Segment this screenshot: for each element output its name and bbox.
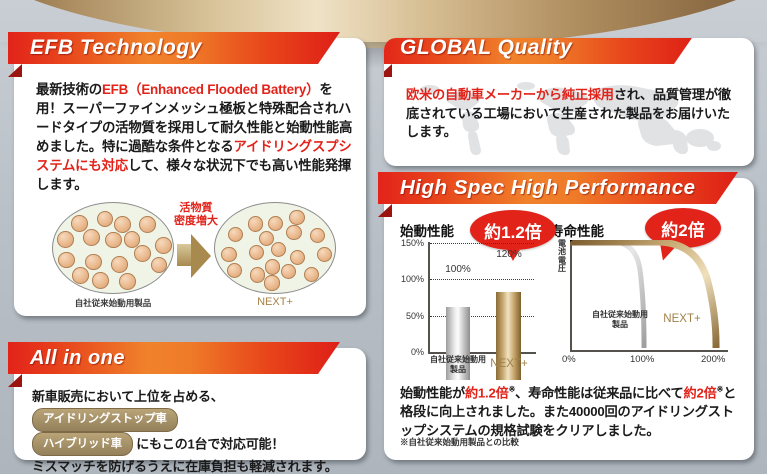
active-material-particle	[58, 252, 75, 269]
active-material-particle	[134, 245, 151, 262]
active-material-particle	[304, 267, 319, 282]
line-label-nextplus: NEXT+	[652, 312, 712, 326]
blob-label-conventional: 自社従来始動用製品	[43, 297, 183, 309]
arrow-label-line2: 密度増大	[174, 215, 218, 227]
active-material-particle	[83, 229, 100, 246]
line-chart-y-axis-label: 電池電圧	[558, 240, 569, 274]
xtick-0: 0%	[562, 354, 576, 365]
ribbon-efb-technology: EFB Technology	[8, 32, 340, 64]
blob-label-nextplus: NEXT+	[205, 296, 345, 308]
ribbon-tail-efb	[8, 64, 22, 77]
bar-chart-starting-performance: 150% 100% 50% 0% 100% 120% 自社従来始動用製品 NEX…	[394, 240, 544, 380]
allinone-line1-pre: 新車販売において上位を占める、	[32, 389, 224, 404]
bar-label-conventional: 自社従来始動用製品	[430, 355, 486, 375]
allinone-paragraph: 新車販売において上位を占める、アイドリングストップ車 ハイブリッド車 にもこの1…	[32, 386, 354, 474]
xtick-100: 100%	[630, 354, 654, 365]
active-material-particle	[286, 225, 301, 240]
active-material-particle	[265, 259, 280, 274]
infographic-root: EFB Technology 最新技術のEFB（Enhanced Flooded…	[0, 0, 767, 474]
line-chart-life-performance: 電池電圧	[556, 236, 742, 382]
ribbon-global-quality: GLOBAL Quality	[384, 38, 696, 64]
gridline-100	[430, 279, 534, 280]
ribbon-title-efb: EFB Technology	[8, 36, 202, 60]
active-material-particle	[72, 267, 89, 284]
arrow-label-line1: 活物質	[180, 202, 213, 214]
bar-chart-y-axis	[428, 242, 430, 352]
arrow-label: 活物質 密度増大	[173, 202, 219, 227]
bar-value-nextplus: 120%	[484, 249, 534, 260]
ytick-150: 150%	[394, 238, 424, 248]
life-curves	[570, 240, 730, 351]
ribbon-high-spec: High Spec High Performance	[378, 172, 738, 204]
ribbon-tail-global	[384, 64, 392, 77]
active-material-particle	[71, 215, 88, 232]
active-material-particle	[114, 216, 131, 233]
density-arrow-group: 活物質 密度増大	[175, 204, 215, 296]
spec-footnote: ※自社従来始動用製品との比較	[400, 436, 519, 448]
arrow-head-icon	[191, 234, 211, 278]
active-material-particle	[250, 267, 265, 282]
active-material-particle	[289, 210, 304, 225]
active-material-particle	[57, 231, 74, 248]
active-material-particle	[221, 247, 236, 262]
particle-density-diagram: 活物質 密度増大 自社従来始動用製品 NEXT+	[32, 198, 352, 308]
spec-text-1: 始動性能が	[400, 385, 465, 400]
xtick-200: 200%	[701, 354, 725, 365]
card-global-quality: GLOBAL Quality 欧米の自動車メーカーから純正採用され、品質管理が徹…	[384, 38, 754, 166]
active-material-particle	[248, 216, 263, 231]
active-material-particle	[97, 211, 114, 228]
global-paragraph: 欧米の自動車メーカーから純正採用され、品質管理が徹底されている工場において生産さ…	[406, 86, 742, 142]
badge-idling-stop: アイドリングストップ車	[32, 408, 178, 432]
ribbon-all-in-one: All in one	[8, 342, 340, 374]
active-material-particle	[151, 257, 168, 274]
active-material-particle	[155, 237, 172, 254]
ribbon-title-spec: High Spec High Performance	[378, 176, 696, 200]
active-material-particle	[310, 228, 325, 243]
active-material-particle	[290, 250, 305, 265]
spec-text-2: 約1.2倍	[465, 385, 509, 400]
active-material-particle	[264, 275, 279, 290]
active-material-particle	[281, 264, 296, 279]
ribbon-tail-allinone	[8, 374, 22, 387]
bar-value-conventional: 100%	[433, 264, 483, 275]
active-material-particle	[271, 242, 286, 257]
efb-text-1: 最新技術の	[36, 82, 102, 97]
card-high-spec: High Spec High Performance 始動性能 寿命性能 約1.…	[384, 178, 754, 460]
bar-label-nextplus: NEXT+	[481, 357, 537, 371]
global-text-1: 欧米の自動車メーカーから純正採用	[406, 87, 614, 102]
allinone-line3: ミスマッチを防げるうえに在庫負担も軽減されます。	[32, 459, 338, 474]
spec-text-4: 約2倍	[683, 385, 716, 400]
line-label-conventional: 自社従来始動用製品	[590, 310, 650, 330]
ytick-50: 50%	[394, 311, 424, 321]
gridline-150	[430, 243, 534, 244]
ribbon-tail-spec	[378, 204, 392, 217]
active-material-particle	[139, 216, 156, 233]
allinone-line2-post: にもこの1台で対応可能！	[136, 437, 284, 452]
active-material-particle	[119, 273, 136, 290]
efb-text-2: EFB（Enhanced Flooded Battery）	[102, 82, 319, 97]
efb-paragraph: 最新技術のEFB（Enhanced Flooded Battery）を用！スーパ…	[36, 80, 354, 194]
ribbon-title-allinone: All in one	[8, 347, 125, 370]
active-material-particle	[105, 232, 122, 249]
spec-text-3: 、寿命性能は従来品に比べて	[515, 385, 683, 400]
active-material-particle	[92, 272, 109, 289]
active-material-particle	[259, 231, 274, 246]
badge-hybrid: ハイブリッド車	[32, 432, 133, 456]
active-material-particle	[227, 263, 242, 278]
active-material-particle	[228, 227, 243, 242]
card-all-in-one: All in one 新車販売において上位を占める、アイドリングストップ車 ハイ…	[14, 348, 366, 460]
blob-nextplus	[214, 202, 336, 294]
spec-paragraph: 始動性能が約1.2倍※、寿命性能は従来品に比べて約2倍※と格段に向上されました。…	[400, 384, 742, 441]
card-efb-technology: EFB Technology 最新技術のEFB（Enhanced Flooded…	[14, 38, 366, 316]
active-material-particle	[249, 245, 264, 260]
ribbon-title-global: GLOBAL Quality	[384, 38, 572, 60]
active-material-particle	[317, 247, 332, 262]
active-material-particle	[268, 216, 283, 231]
active-material-particle	[111, 256, 128, 273]
ytick-100: 100%	[394, 274, 424, 284]
ytick-0: 0%	[394, 347, 424, 357]
chart-title-starting-performance: 始動性能	[400, 220, 454, 240]
blob-conventional	[52, 202, 174, 294]
active-material-particle	[85, 254, 102, 271]
